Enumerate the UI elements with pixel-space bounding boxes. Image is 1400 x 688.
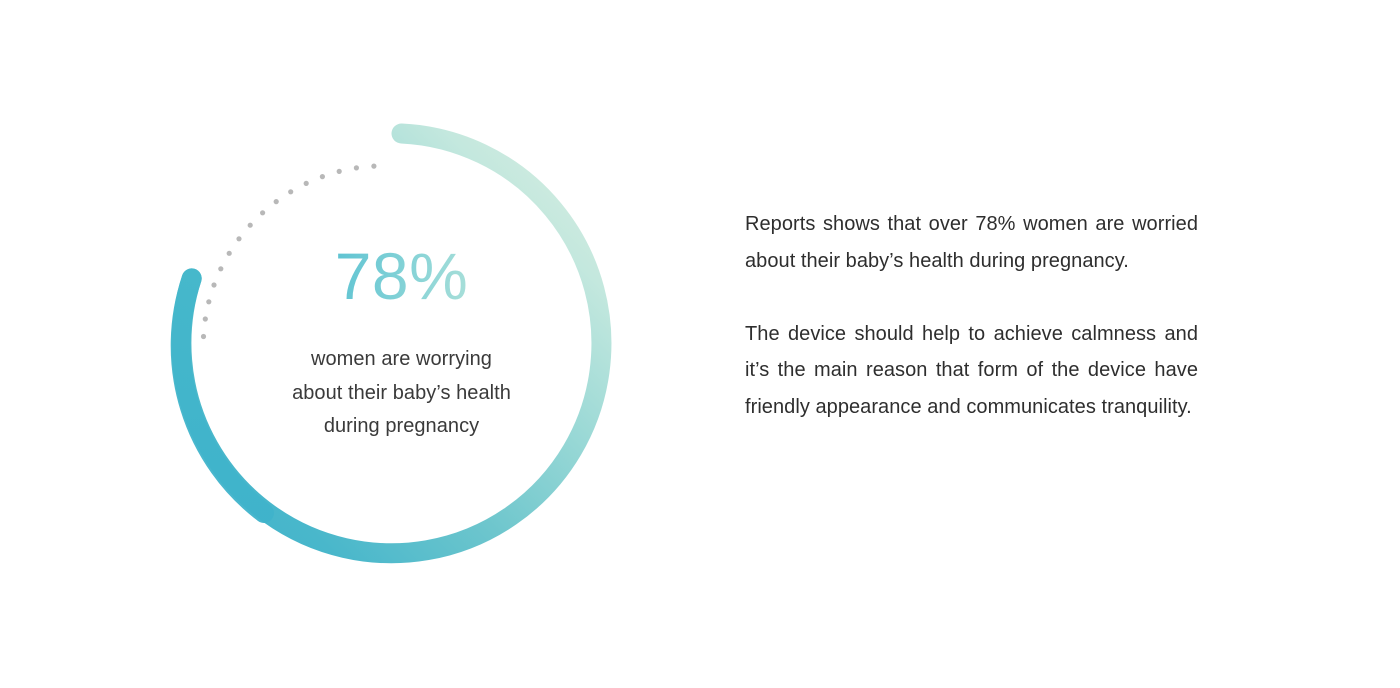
donut-remainder-track	[201, 164, 377, 340]
description-text-block: Reports shows that over 78% women are wo…	[745, 206, 1198, 426]
donut-chart-svg	[181, 123, 622, 564]
donut-chart: 78% women are worrying about their baby’…	[181, 123, 622, 564]
donut-progress-arc-accent	[181, 278, 264, 513]
description-paragraph-1: Reports shows that over 78% women are wo…	[745, 206, 1198, 279]
infographic-slide: 78% women are worrying about their baby’…	[0, 0, 1400, 688]
description-paragraph-2: The device should help to achieve calmne…	[745, 316, 1198, 426]
